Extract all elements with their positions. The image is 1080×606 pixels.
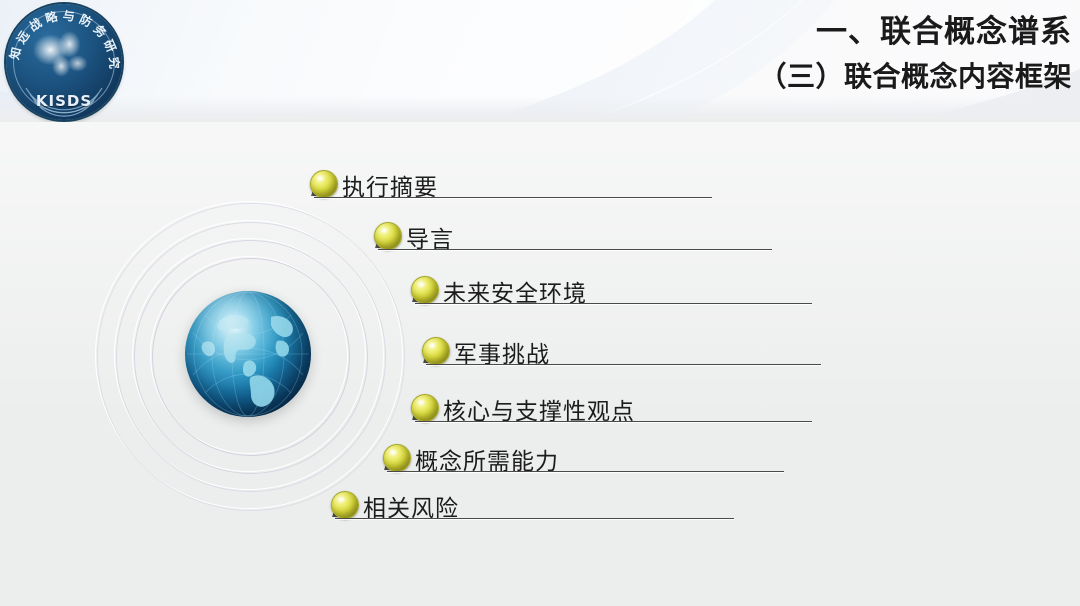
sphere-bullet-icon (374, 222, 402, 250)
list-item-underline (415, 421, 812, 422)
sphere-bullet-icon (411, 394, 439, 422)
slide-header: 知 远 战 略 与 防 务 研 究 所 KISDS 一、联合概念谱系 （三）联合… (0, 0, 1080, 122)
list-item-underline (426, 364, 821, 365)
header-title-block: 一、联合概念谱系 （三）联合概念内容框架 (758, 12, 1072, 96)
list-item-underline (415, 303, 812, 304)
institute-logo: 知 远 战 略 与 防 务 研 究 所 KISDS (6, 4, 122, 120)
header-bottom-fade (0, 96, 1080, 122)
page-title: 一、联合概念谱系 (758, 12, 1072, 54)
sphere-bullet-icon (383, 444, 411, 472)
globe-gloss (185, 291, 311, 417)
list-item-underline (378, 249, 772, 250)
page-subtitle: （三）联合概念内容框架 (758, 58, 1072, 96)
list-item-underline (314, 197, 712, 198)
slide: 知 远 战 略 与 防 务 研 究 所 KISDS 一、联合概念谱系 （三）联合… (0, 0, 1080, 606)
logo-abbr-text: KISDS (6, 92, 122, 110)
list-item-underline (335, 518, 734, 519)
earth-globe-icon (185, 291, 311, 417)
list-item-underline (387, 471, 784, 472)
sphere-bullet-icon (331, 491, 359, 519)
sphere-bullet-icon (411, 276, 439, 304)
globe-graphic (105, 195, 395, 525)
sphere-bullet-icon (310, 170, 338, 198)
sphere-bullet-icon (422, 337, 450, 365)
